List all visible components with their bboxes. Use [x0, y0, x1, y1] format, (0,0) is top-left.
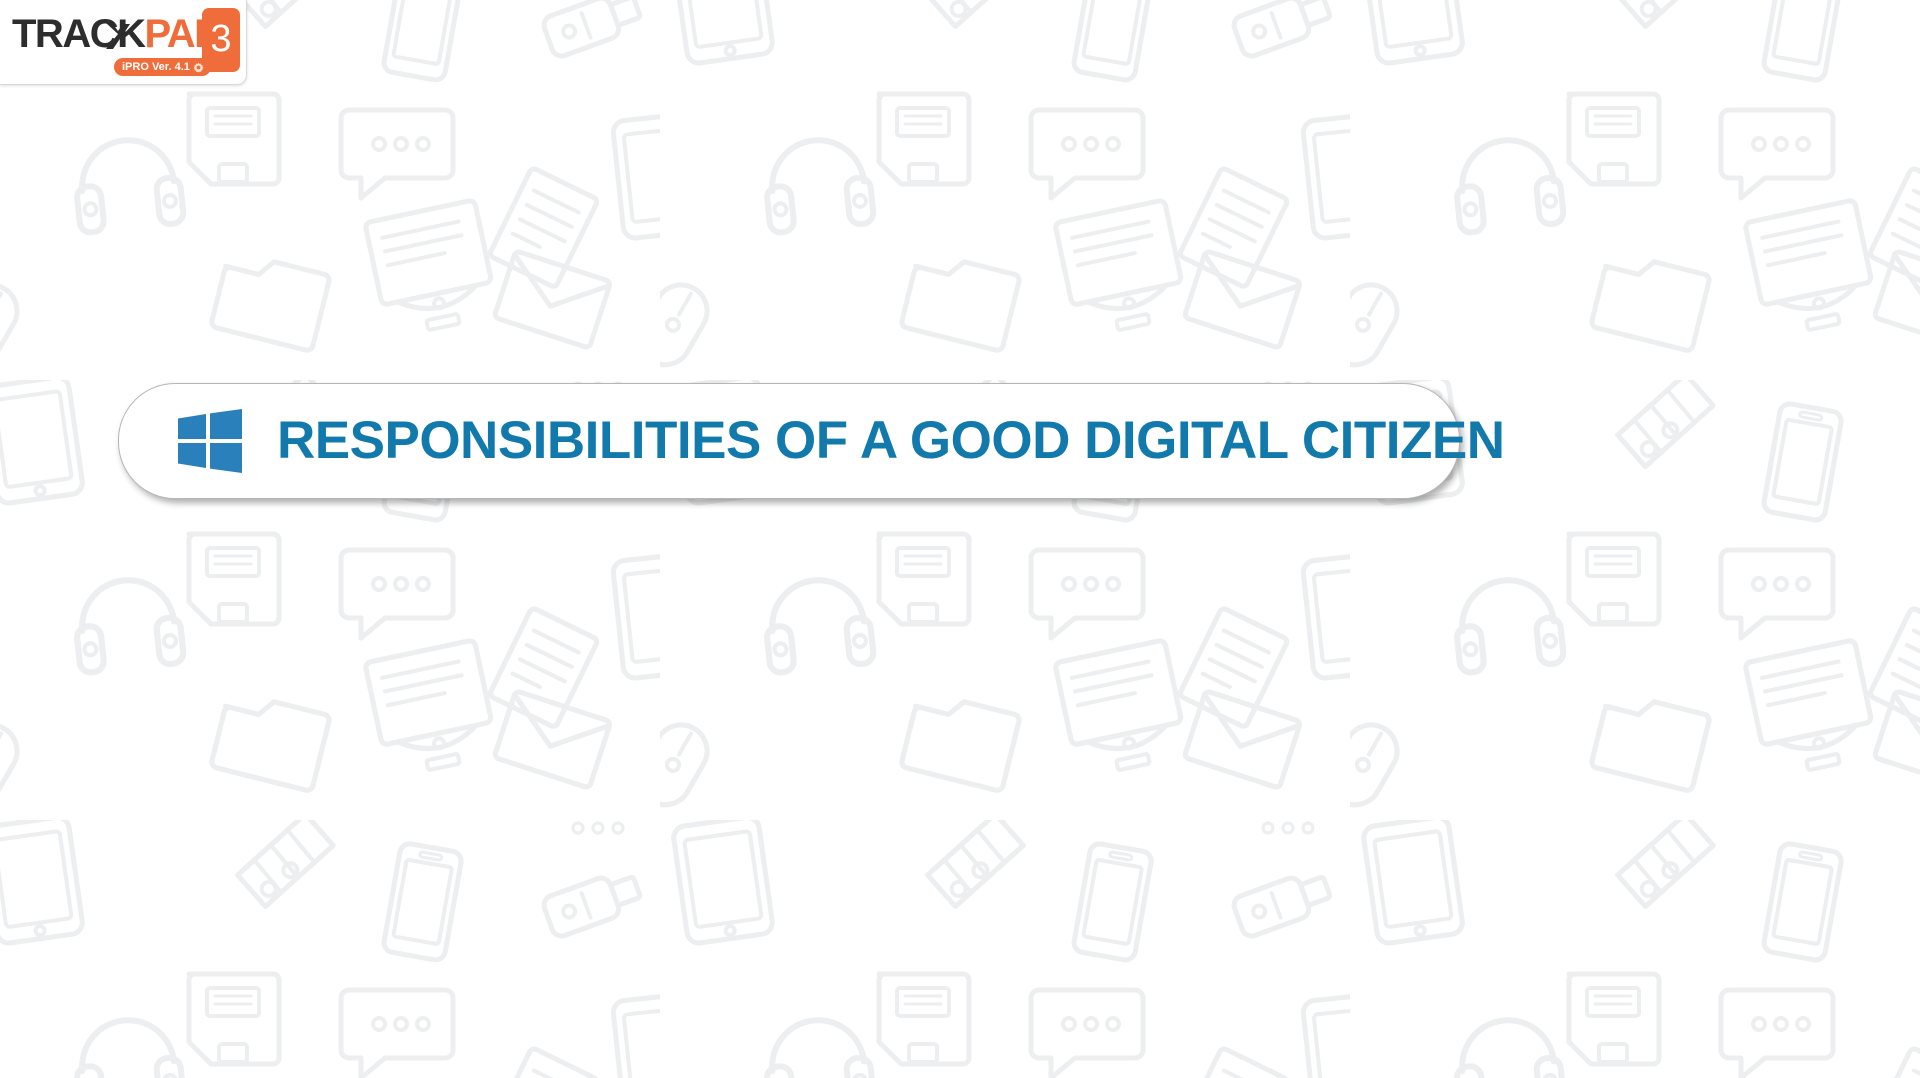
slide-title-bar: RESPONSIBILITIES OF A GOOD DIGITAL CITIZ…: [118, 383, 1460, 499]
logo-ipro-label: iPRO Ver. 4.1: [122, 58, 190, 76]
slide-canvas: TRACKPAD 3 iPRO Ver. 4.1 RESPONSIBILITIE…: [0, 0, 1920, 1078]
logo-ipro-badge: iPRO Ver. 4.1: [114, 58, 211, 76]
windows-logo-icon: [177, 409, 243, 473]
page-title: RESPONSIBILITIES OF A GOOD DIGITAL CITIZ…: [277, 413, 1505, 469]
logo-version-number: 3: [202, 17, 240, 61]
gear-icon: [193, 62, 204, 73]
trackpad-x-mark-icon: [104, 22, 132, 50]
trackpad-logo-badge: TRACKPAD 3 iPRO Ver. 4.1: [0, 0, 247, 85]
background-pattern: [0, 0, 1920, 1078]
